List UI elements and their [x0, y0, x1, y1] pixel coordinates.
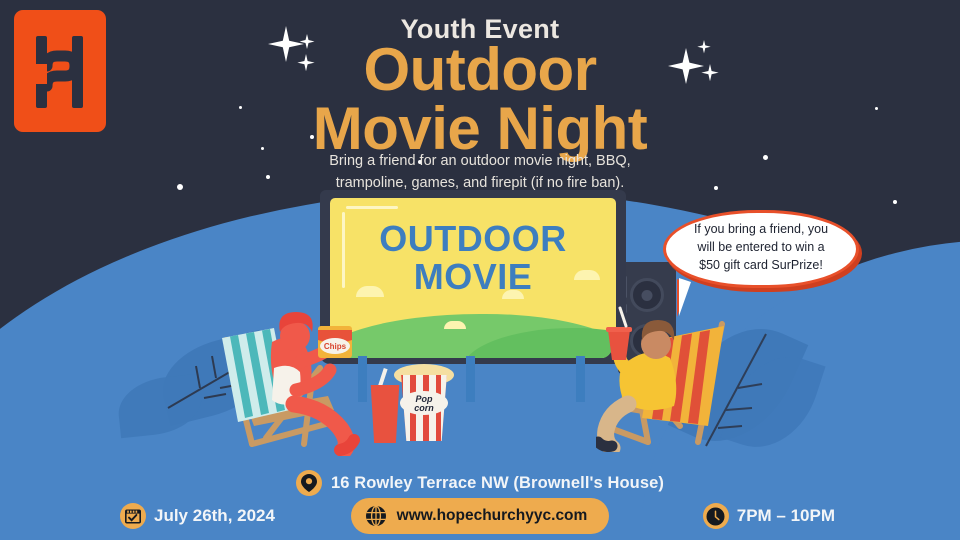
- event-description: Bring a friend for an outdoor movie nigh…: [0, 150, 960, 195]
- description-line-1: Bring a friend for an outdoor movie nigh…: [0, 150, 960, 172]
- location-text: 16 Rowley Terrace NW (Brownell's House): [331, 474, 664, 493]
- title-line-1: Outdoor: [0, 41, 960, 100]
- event-time-text: 7PM – 10PM: [737, 506, 835, 526]
- popcorn-label-line-2: corn: [404, 404, 444, 413]
- right-person-in-deck-chair: [596, 300, 756, 452]
- screen-text: OUTDOOR MOVIE: [330, 220, 616, 296]
- screen-cloud: [444, 321, 466, 329]
- page-title: Outdoor Movie Night: [0, 41, 960, 159]
- bubble-line-2: will be entered to win a: [678, 239, 844, 257]
- speech-bubble-text: If you bring a friend, you will be enter…: [678, 221, 844, 277]
- popcorn-label: Pop corn: [404, 395, 444, 414]
- screen-leg: [466, 356, 475, 402]
- event-time: 7PM – 10PM: [703, 503, 835, 529]
- calendar-check-icon: [120, 503, 146, 529]
- location-info: 16 Rowley Terrace NW (Brownell's House): [0, 470, 960, 496]
- screen-leg: [576, 356, 585, 402]
- website-url: www.hopechurchyyc.com: [397, 507, 588, 525]
- bubble-line-1: If you bring a friend, you: [678, 221, 844, 239]
- screen-text-line-2: MOVIE: [330, 258, 616, 296]
- poster-canvas: Youth Event Outdoor Movie Night Bring a …: [0, 0, 960, 540]
- event-date-text: July 26th, 2024: [154, 506, 275, 526]
- bottom-info-bar: July 26th, 2024 www.hopechurchyyc.com: [0, 498, 960, 534]
- speech-bubble: If you bring a friend, you will be enter…: [663, 210, 859, 288]
- globe-icon: [365, 505, 387, 527]
- clock-icon: [703, 503, 729, 529]
- screen-highlight: [346, 206, 398, 209]
- chips-label: Chips: [324, 342, 347, 351]
- star-dot: [893, 200, 897, 204]
- left-person-in-deck-chair: Chips: [208, 306, 378, 456]
- screen-text-line-1: OUTDOOR: [330, 220, 616, 258]
- map-pin-icon: [296, 470, 322, 496]
- website-button[interactable]: www.hopechurchyyc.com: [351, 498, 610, 534]
- event-date: July 26th, 2024: [120, 503, 275, 529]
- bubble-line-3: $50 gift card SurPrize!: [678, 257, 844, 275]
